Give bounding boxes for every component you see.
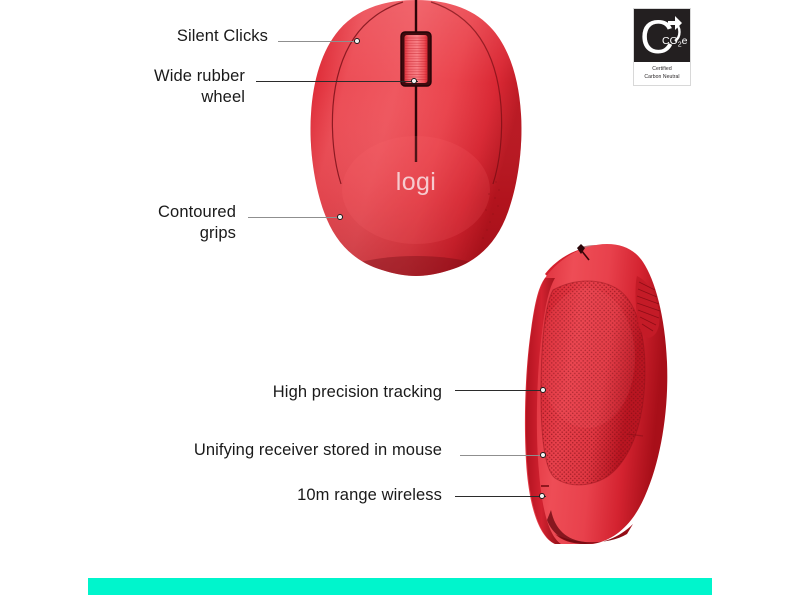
callout-label-unifying-receiver: Unifying receiver stored in mouse	[100, 440, 442, 461]
carbon-badge-caption-wrap: Certified Carbon Neutral	[634, 62, 690, 85]
mouse-side-view-illustration	[515, 238, 680, 558]
carbon-badge-caption: Certified Carbon Neutral	[644, 66, 679, 81]
mouse-top-view-illustration: logi	[300, 0, 532, 286]
leader-line-unifying-receiver	[460, 455, 546, 456]
logi-wordmark: logi	[396, 168, 437, 196]
leader-dot-10m-range-wireless	[539, 493, 545, 499]
callout-label-silent-clicks: Silent Clicks	[60, 26, 268, 47]
callout-label-contoured-grips: Contoured grips	[60, 202, 236, 244]
leader-line-10m-range-wireless	[455, 496, 546, 497]
leader-dot-wide-rubber-wheel	[411, 78, 417, 84]
leader-dot-high-precision-tracking	[540, 387, 546, 393]
callout-label-high-precision-tracking: High precision tracking	[150, 382, 442, 403]
callout-label-10m-range-wireless: 10m range wireless	[180, 485, 442, 506]
certified-carbon-neutral-badge: C CO2e Certified Carbon Neutral	[633, 8, 691, 86]
leader-dot-unifying-receiver	[540, 452, 546, 458]
leader-line-high-precision-tracking	[455, 390, 546, 391]
carbon-mark: C CO2e	[634, 9, 690, 62]
co2e-label: CO2e	[662, 35, 687, 48]
leader-line-wide-rubber-wheel	[256, 81, 418, 82]
callout-label-wide-rubber-wheel: Wide rubber wheel	[60, 66, 245, 108]
bottom-accent-bar	[88, 578, 712, 595]
leader-dot-contoured-grips	[337, 214, 343, 220]
leader-line-contoured-grips	[248, 217, 343, 218]
leader-dot-silent-clicks	[354, 38, 360, 44]
leader-line-silent-clicks	[278, 41, 360, 42]
product-infographic: logi	[0, 0, 800, 600]
